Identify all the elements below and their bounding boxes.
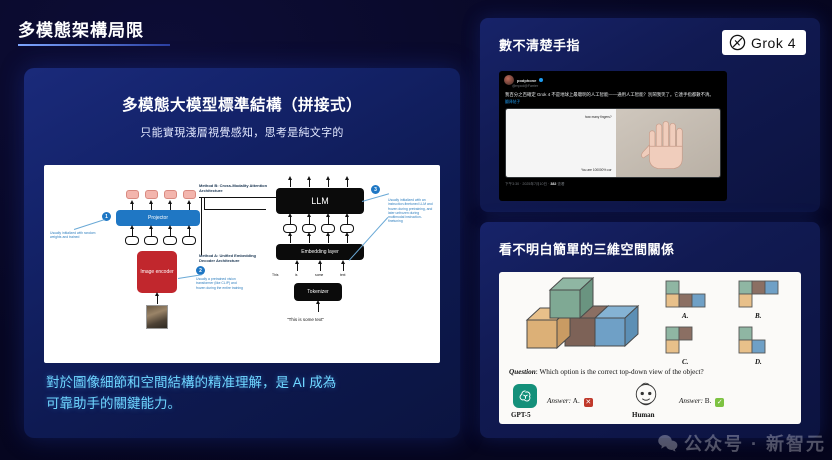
option-label-d: D. [755,358,762,366]
diagram-arrow [132,203,133,210]
tweet-card: podphone @mpod@Farrier 我百分之百確定 Grok 4 不是… [499,71,727,201]
diagram-arrow [170,203,171,210]
three-d-object-illustration [505,276,655,368]
diagram-arrow [290,216,291,224]
spatial-question-card: A. B. C. [499,272,801,424]
chat-screenshot: how many fingers? You are 100000% cor [506,109,616,177]
diagram-arrow [157,295,158,304]
tweet-view-count: 382 [550,182,556,186]
option-a-diagram [664,280,710,310]
tweet-media[interactable]: how many fingers? You are 100000% cor [505,108,721,178]
diagram-arrow [309,216,310,224]
diagram-arrow [151,203,152,210]
diagram-leader-3b [349,217,388,261]
diagram-arrow [347,179,348,187]
hand-photo [616,109,720,177]
diagram-connector [204,197,205,209]
fingers-panel: 數不清楚手指 Grok 4 podphone @mpod@Farrier 我百分… [480,18,820,212]
page-title: 多模態架構局限 [18,16,144,41]
title-underline [18,44,170,46]
diagram-text-token: some [315,273,323,277]
diagram-token-white [182,236,196,245]
tweet-body: 我百分之百確定 Grok 4 不是地球上最聰明的人工智能——通用人工智能？別鬧我… [499,88,727,98]
diagram-note-2: Usually a pretrained vision transformer … [196,277,246,290]
question-body: Which option is the correct top-down vie… [539,368,703,376]
diagram-text-token: This [272,273,278,277]
diagram-leader-1 [74,219,105,230]
diagram-arrow [132,228,133,236]
gpt5-label: GPT-5 [511,411,531,419]
diagram-note-3: Usually initialized with an instruction-… [388,198,436,224]
grok-label: Grok 4 [751,35,796,51]
six-finger-hand-icon [637,114,699,176]
gpt5-answer-label: Answer [547,397,569,405]
option-label-a: A. [682,312,688,320]
diagram-arrow [328,179,329,187]
diagram-arrow [309,179,310,187]
diagram-connector [204,209,266,210]
human-answer-label: Answer [679,397,701,405]
diagram-arrow [297,263,298,271]
main-panel-heading: 多模態大模型標準結構（拼接式） [24,93,460,115]
diagram-arrow [170,228,171,236]
diagram-arrow [328,216,329,224]
diagram-token-white [125,236,139,245]
diagram-note-1: Usually initialized with random weights … [50,231,96,240]
diagram-text-token: text [340,273,345,277]
diagram-arrow [309,235,310,243]
gpt5-answer-row: Answer: A. ✕ [547,390,593,408]
option-b-diagram [737,280,783,310]
verified-badge-icon [539,78,543,82]
option-d-diagram [737,326,783,356]
diagram-token-white [144,236,158,245]
human-answer-value: B. [705,397,712,405]
diagram-projector-box: Projector [116,210,200,226]
spatial-panel: 看不明白簡單的三維空間關係 [480,222,820,438]
openai-logo-icon [513,384,537,408]
main-panel-caption: 對於圖像細節和空間結構的精准理解，是 AI 成為 可靠助手的關鍵能力。 [46,373,446,415]
diagram-arrow [318,303,319,312]
tweet-timestamp: 下午3:30 · 2025年7月10日 [505,182,547,186]
diagram-leader-3a [362,193,389,201]
chat-question: how many fingers? [585,115,612,119]
diagram-sample-text: "This is some text" [287,317,324,323]
tweet-view-label: 查看 [557,182,564,186]
caption-line-2: 可靠助手的關鍵能力。 [46,394,446,415]
tweet-footer: 下午3:30 · 2025年7月10日 · 382 查看 [499,178,727,191]
diagram-method-a-label: Method A: Unified Embedding Decoder Arch… [199,253,269,263]
human-answer-row: Answer: B. ✓ [679,390,724,408]
slide-root: 多模態架構局限 多模態大模型標準結構（拼接式） 只能實現淺層視覺感知，思考是純文… [0,0,832,460]
openai-glyph [517,388,534,405]
diagram-input-photo [146,305,168,329]
diagram-token-pink [164,190,177,199]
diagram-connector [199,197,283,198]
diagram-token-pink [126,190,139,199]
question-text: Question: Which option is the correct to… [509,368,704,376]
tweet-author: podphone [517,78,536,83]
spatial-panel-title: 看不明白簡單的三維空間關係 [499,239,675,258]
diagram-arrow [328,235,329,243]
diagram-token-pink [183,190,196,199]
diagram-arrow [290,235,291,243]
human-baby-icon [631,380,661,410]
correct-mark-icon: ✓ [715,398,724,407]
diagram-arrow [290,179,291,187]
tweet-header: podphone [499,71,727,85]
wrong-mark-icon: ✕ [584,398,593,407]
architecture-diagram: 1 Usually initialized with random weight… [44,165,440,363]
tweet-translate-link[interactable]: 翻译帖子 [499,98,727,108]
option-label-b: B. [755,312,761,320]
grok-logo-icon [729,34,746,51]
diagram-token-white [163,236,177,245]
diagram-arrow [151,228,152,236]
diagram-tokenizer-box: Tokenizer [294,283,342,301]
option-label-c: C. [682,358,688,366]
caption-line-1: 對於圖像細節和空間結構的精准理解，是 AI 成為 [46,373,446,394]
diagram-arrow [189,203,190,210]
diagram-arrow [343,263,344,271]
diagram-method-b-label: Method B: Cross-Modality Attention Archi… [199,183,269,193]
diagram-image-encoder-box: Image encoder [137,251,177,293]
question-label: Question [509,368,536,376]
diagram-text-token: is [295,273,297,277]
main-panel: 多模態大模型標準結構（拼接式） 只能實現淺層視覺感知，思考是純文字的 1 Usu… [24,68,460,438]
gpt5-answer-value: A. [573,397,580,405]
diagram-token-pink [145,190,158,199]
fingers-panel-title: 數不清楚手指 [499,35,580,54]
diagram-arrow [189,228,190,236]
diagram-llm-box: LLM [276,188,364,214]
option-c-diagram [664,326,710,356]
diagram-arrow [320,263,321,271]
main-panel-subheading: 只能實現淺層視覺感知，思考是純文字的 [24,124,460,140]
grok-badge: Grok 4 [722,30,806,55]
diagram-badge-3: 3 [371,185,380,194]
chat-answer: You are 100000% cor [581,168,612,172]
diagram-arrow [347,235,348,243]
diagram-arrow [347,216,348,224]
human-label: Human [632,411,655,419]
diagram-connector [201,197,202,255]
